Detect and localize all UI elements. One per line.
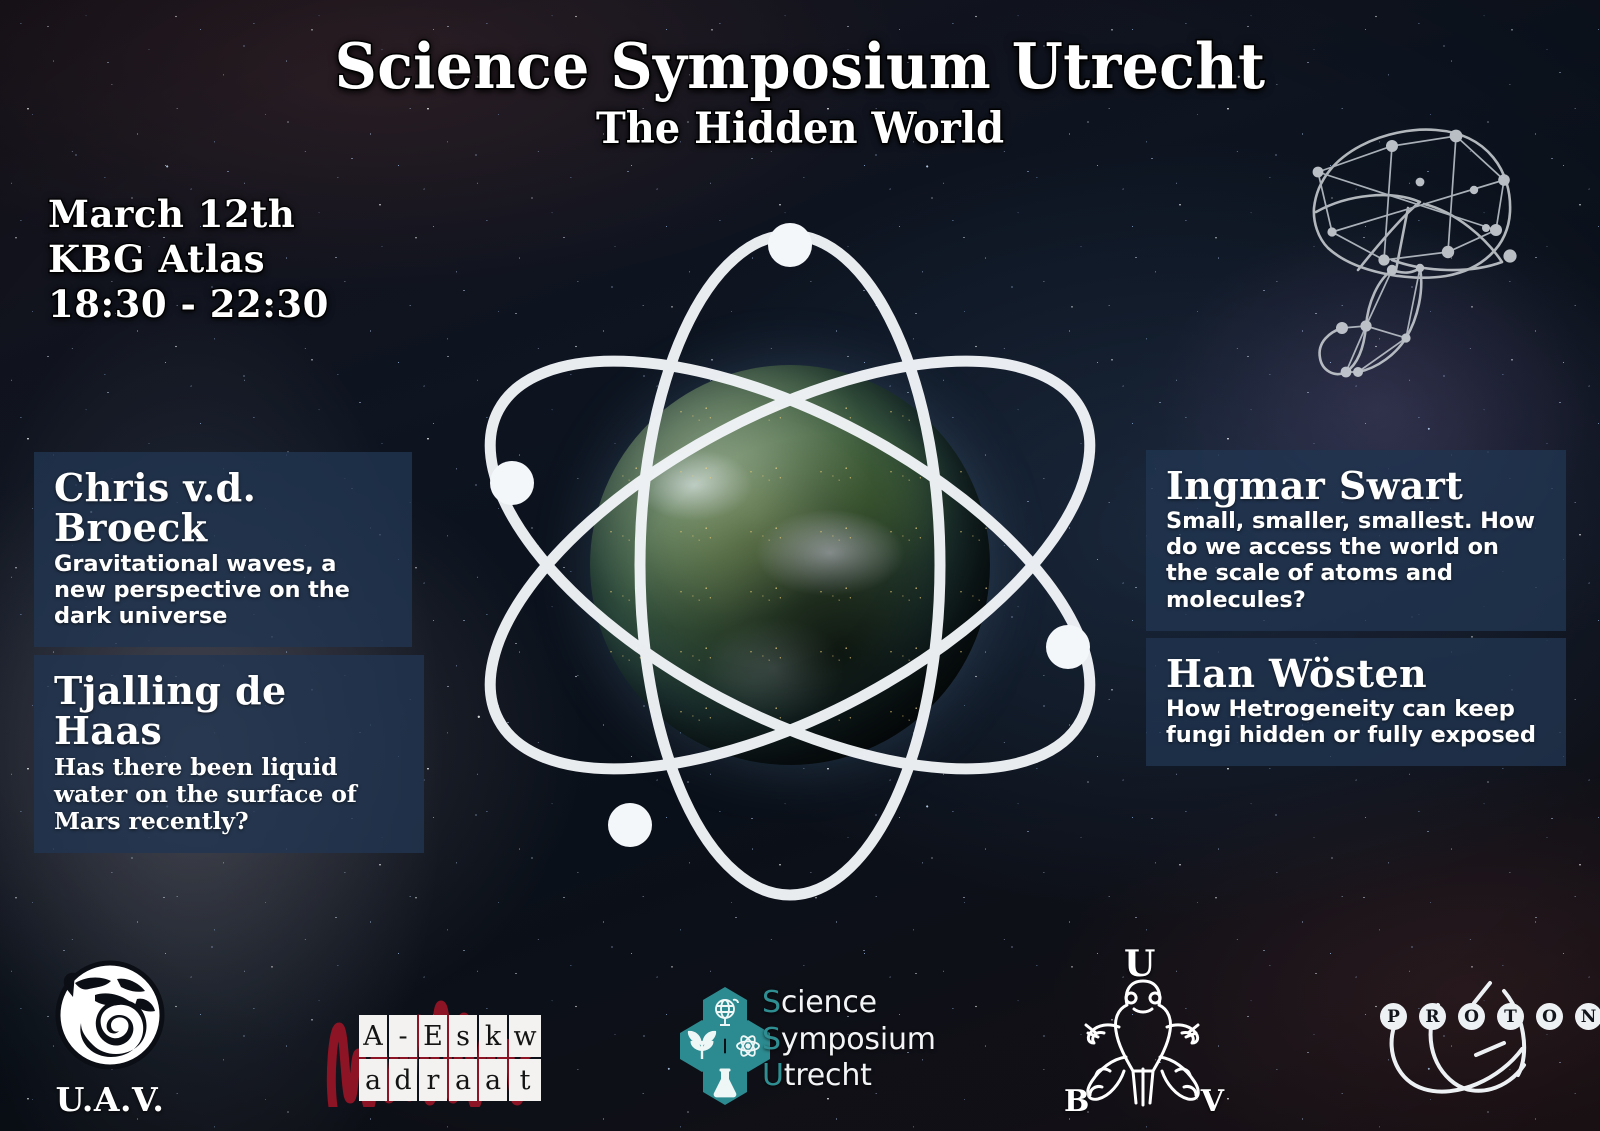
aesk-row-1: A - E s k w <box>359 1015 541 1057</box>
speaker-name: Tjalling de Haas <box>54 671 404 752</box>
proton-letter: O <box>1536 1003 1563 1030</box>
ssu-hexagon-cluster <box>680 987 770 1105</box>
atom-orbits <box>440 215 1140 915</box>
logo-proton-letters: P R O T O N <box>1380 1003 1600 1030</box>
logo-ssu: Science Symposium Utrecht <box>680 987 920 1107</box>
aesk-cell: t <box>509 1059 541 1101</box>
aesk-cell: a <box>359 1059 387 1101</box>
aesk-cell: a <box>449 1059 477 1101</box>
aesk-cell: k <box>479 1015 507 1057</box>
speaker-topic: Gravitational waves, a new perspective o… <box>54 551 392 629</box>
speaker-card-broeck: Chris v.d. Broeck Gravitational waves, a… <box>34 452 412 647</box>
aesk-cell: d <box>389 1059 417 1101</box>
event-info: March 12th KBG Atlas 18:30 - 22:30 <box>48 192 329 327</box>
logo-proton: P R O T O N <box>1372 961 1572 1101</box>
aesk-row-2: a d r a a t <box>359 1059 541 1101</box>
aesk-cell: w <box>509 1015 541 1057</box>
event-date: March 12th <box>48 192 329 237</box>
electron-bottom <box>608 803 652 847</box>
ubv-letter-v: V <box>1201 1084 1224 1119</box>
speaker-name: Chris v.d. Broeck <box>54 468 392 549</box>
speaker-name: Han Wösten <box>1166 654 1546 694</box>
globe-ammonite-icon <box>45 957 175 1077</box>
aesk-cell: E <box>419 1015 447 1057</box>
poster-canvas: Science Symposium Utrecht The Hidden Wor… <box>0 0 1600 1131</box>
logo-uav: U.A.V. <box>30 957 190 1119</box>
proton-letter: T <box>1497 1003 1524 1030</box>
logo-ubv: U B V <box>1048 947 1238 1117</box>
speaker-topic: How Hetrogeneity can keep fungi hidden o… <box>1166 696 1546 748</box>
speaker-name: Ingmar Swart <box>1166 466 1546 506</box>
aesk-cell: s <box>449 1015 477 1057</box>
ssu-line-utrecht: Utrecht <box>762 1058 936 1095</box>
speaker-card-wosten: Han Wösten How Hetrogeneity can keep fun… <box>1146 638 1566 766</box>
proton-letter: O <box>1458 1003 1485 1030</box>
title-block: Science Symposium Utrecht The Hidden Wor… <box>0 34 1600 154</box>
event-venue: KBG Atlas <box>48 237 329 282</box>
earth-atom-icon <box>440 215 1140 915</box>
proton-letter: P <box>1380 1003 1407 1030</box>
ubv-letter-u: U <box>1124 943 1155 985</box>
page-subtitle: The Hidden World <box>56 104 1544 154</box>
logo-ssu-wordmark: Science Symposium Utrecht <box>762 985 936 1095</box>
atom-orbit-icon <box>1372 961 1572 1101</box>
aesk-cell: a <box>479 1059 507 1101</box>
logo-uav-label: U.A.V. <box>30 1080 190 1119</box>
event-time: 18:30 - 22:30 <box>48 282 329 327</box>
logo-aeskwadraat-letters: A - E s k w a d r a a t <box>359 1015 541 1103</box>
speaker-topic: Has there been liquid water on the surfa… <box>54 754 404 836</box>
ubv-letter-b: B <box>1064 1084 1089 1119</box>
mushroom-constellation-icon <box>1296 120 1526 380</box>
aesk-cell: r <box>419 1059 447 1101</box>
speaker-topic: Small, smaller, smallest. How do we acce… <box>1166 508 1546 612</box>
electron-right <box>1046 625 1090 669</box>
electron-top <box>768 223 812 267</box>
ssu-line-symposium: Symposium <box>762 1022 936 1059</box>
logo-aeskwadraat: A - E s k w a d r a a t <box>323 981 535 1111</box>
page-title: Science Symposium Utrecht <box>56 34 1544 98</box>
electron-left <box>490 461 534 505</box>
logo-row: U.A.V. A - E s k w a d r a <box>0 921 1600 1131</box>
aesk-cell: A <box>359 1015 387 1057</box>
proton-letter: N <box>1575 1003 1600 1030</box>
speaker-card-de-haas: Tjalling de Haas Has there been liquid w… <box>34 655 424 853</box>
speaker-card-swart: Ingmar Swart Small, smaller, smallest. H… <box>1146 450 1566 631</box>
proton-letter: R <box>1419 1003 1446 1030</box>
ssu-line-science: Science <box>762 985 936 1022</box>
aesk-cell: - <box>389 1015 417 1057</box>
